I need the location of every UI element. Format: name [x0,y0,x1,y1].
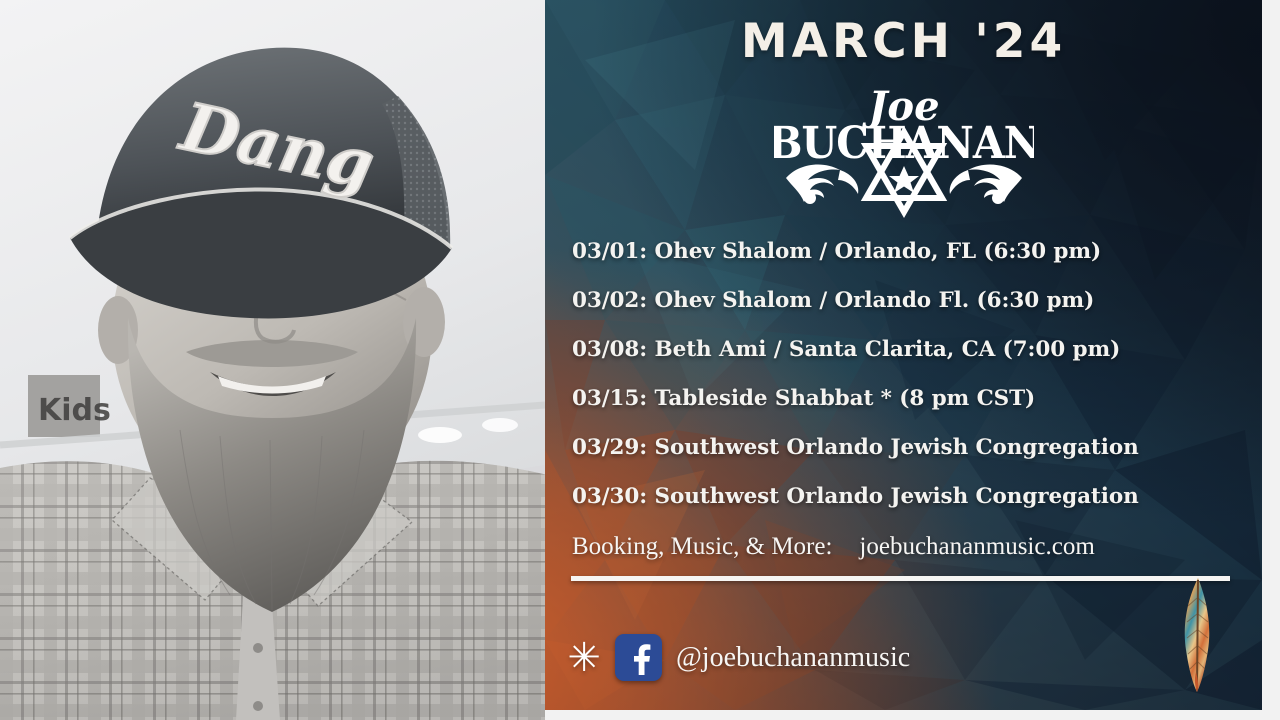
artist-logo: BUCHANAN Joe [774,74,1034,219]
booking-line: Booking, Music, & More: joebuchananmusic… [572,533,1095,561]
svg-text:Kids: Kids [38,393,111,428]
divider [571,576,1230,581]
event-row: 03/30: Southwest Orlando Jewish Congrega… [572,472,1232,521]
artist-photo: Kids [0,0,545,720]
website-url[interactable]: joebuchananmusic.com [859,533,1094,561]
event-row: 03/29: Southwest Orlando Jewish Congrega… [572,423,1232,472]
event-row: 03/15: Tableside Shabbat * (8 pm CST) [572,374,1232,423]
booking-label: Booking, Music, & More: [572,533,832,561]
facebook-icon[interactable] [615,634,662,681]
event-row: 03/08: Beth Ami / Santa Clarita, CA (7:0… [572,325,1232,374]
event-row: 03/02: Ohev Shalom / Orlando Fl. (6:30 p… [572,276,1232,325]
social-handle[interactable]: @joebuchananmusic [676,642,910,674]
event-row: 03/01: Ohev Shalom / Orlando, FL (6:30 p… [572,227,1232,276]
svg-text:Joe: Joe [861,83,939,130]
page-title: MARCH '24 [545,14,1262,69]
event-list: 03/01: Ohev Shalom / Orlando, FL (6:30 p… [572,227,1232,521]
asterisk-star-icon[interactable]: ✳ [567,641,601,675]
info-panel: MARCH '24 [545,0,1262,710]
social-row: ✳ @joebuchananmusic [567,634,910,681]
tour-poster: Kids [0,0,1280,720]
feather-icon [1176,576,1218,694]
